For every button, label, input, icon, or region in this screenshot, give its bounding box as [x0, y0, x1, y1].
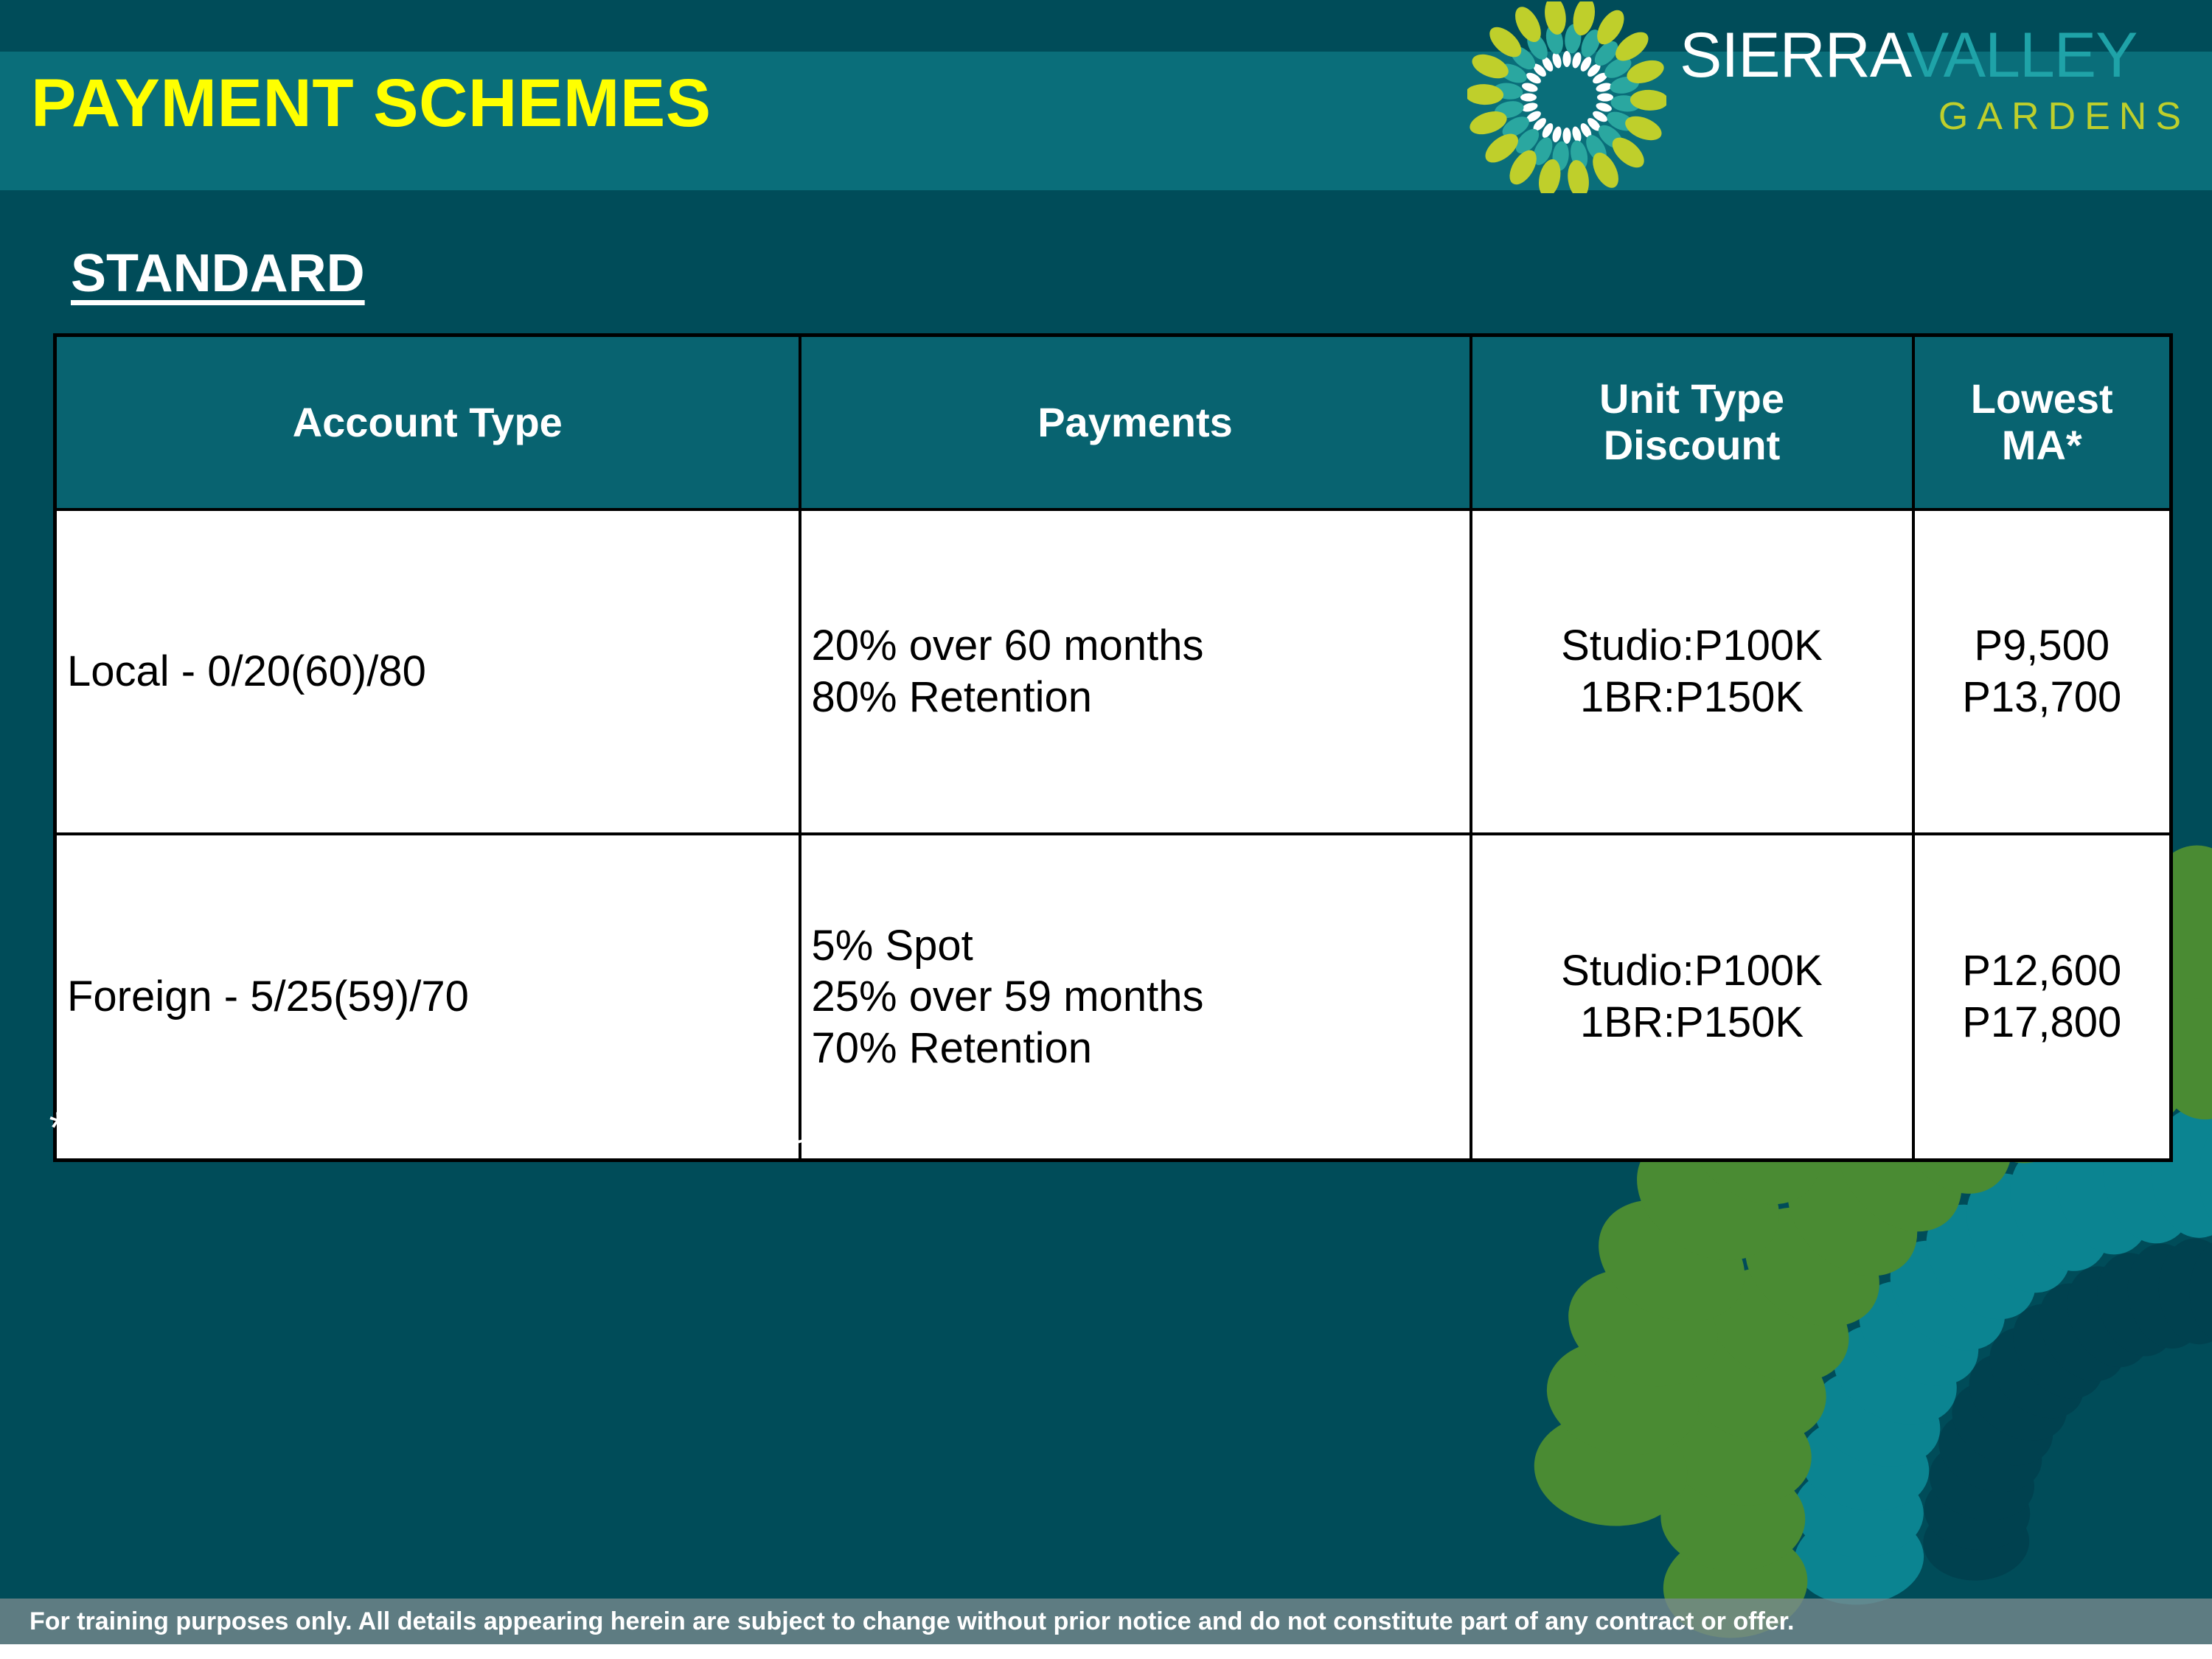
cell-account-type: Local - 0/20(60)/80 — [55, 509, 800, 834]
column-header-unit-type-discount: Unit Type Discount — [1471, 335, 1913, 510]
slide-canvas: PAYMENT SCHEMES SIERRAVALLEY GARDENS STA… — [0, 0, 2212, 1659]
cell-line: 70% Retention — [812, 1023, 1459, 1074]
section-heading: STANDARD — [71, 243, 365, 304]
column-header-account-type: Account Type — [55, 335, 800, 510]
cell-line: Studio:P100K — [1483, 945, 1902, 997]
table-header-row: Account Type Payments Unit Type Discount… — [55, 335, 2171, 510]
payment-schemes-table: Account Type Payments Unit Type Discount… — [53, 333, 2173, 1162]
cell-line: P9,500 — [1925, 620, 2160, 672]
cell-line: 20% over 60 months — [812, 620, 1459, 672]
header-line: Discount — [1480, 422, 1905, 469]
cell-line: 1BR:P150K — [1483, 997, 1902, 1048]
cell-line: 5% Spot — [812, 920, 1459, 972]
cell-line: P12,600 — [1925, 945, 2160, 997]
disclaimer-text: For training purposes only. All details … — [0, 1599, 2212, 1644]
column-header-payments: Payments — [800, 335, 1471, 510]
header-line: MA* — [1922, 422, 2163, 469]
brand-name-gardens: GARDENS — [1680, 97, 2196, 136]
header-line: Lowest — [1922, 376, 2163, 422]
cell-line: P17,800 — [1925, 997, 2160, 1048]
header-line: Unit Type — [1480, 376, 1905, 422]
cell-lowest-ma: P12,600 P17,800 — [1913, 834, 2171, 1161]
cell-line: 25% over 59 months — [812, 971, 1459, 1023]
logo-wordmark: SIERRAVALLEY GARDENS — [1680, 24, 2196, 136]
cell-line: Studio:P100K — [1483, 620, 1902, 672]
cell-lowest-ma: P9,500 P13,700 — [1913, 509, 2171, 834]
table-row: Local - 0/20(60)/80 20% over 60 months 8… — [55, 509, 2171, 834]
cell-line: P13,700 — [1925, 672, 2160, 723]
cell-unit-type-discount: Studio:P100K 1BR:P150K — [1471, 834, 1913, 1161]
cell-line: 1BR:P150K — [1483, 672, 1902, 723]
brand-name-valley: VALLEY — [1907, 20, 2138, 91]
brand-logo: SIERRAVALLEY GARDENS — [1467, 1, 2212, 193]
column-header-lowest-ma: Lowest MA* — [1913, 335, 2171, 510]
cell-line: 80% Retention — [812, 672, 1459, 723]
bottom-white-strip — [0, 1644, 2212, 1659]
brand-name-sierra: SIERRA — [1680, 20, 1907, 91]
footnote-text: *Net of Unit Type Discount and 5% Launch… — [47, 1102, 1069, 1153]
cell-payments: 20% over 60 months 80% Retention — [800, 509, 1471, 834]
cell-unit-type-discount: Studio:P100K 1BR:P150K — [1471, 509, 1913, 834]
sunburst-logo-icon — [1467, 1, 1666, 193]
page-title: PAYMENT SCHEMES — [31, 69, 712, 137]
